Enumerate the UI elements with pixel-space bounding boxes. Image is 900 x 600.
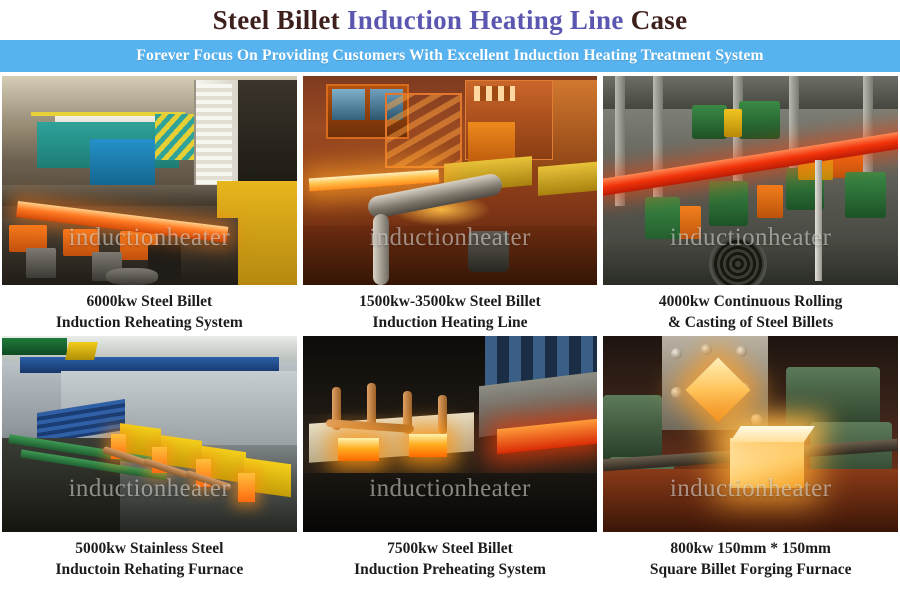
tagline-text: Forever Focus On Providing Customers Wit… xyxy=(136,47,763,65)
case-caption-2-line2: Induction Heating Line xyxy=(303,312,598,333)
page-title-part-2: Induction Heating Line xyxy=(347,5,624,35)
case-caption-6-line1: 800kw 150mm * 150mm xyxy=(670,540,831,557)
case-photo-5[interactable]: inductionheater xyxy=(303,336,598,532)
case-photo-4[interactable]: inductionheater xyxy=(2,336,297,532)
case-caption-3-line1: 4000kw Continuous Rolling xyxy=(659,293,842,310)
case-gallery-grid: inductionheater 6000kw Steel Billet Indu… xyxy=(0,72,900,581)
page-title-part-1: Steel Billet xyxy=(213,5,347,35)
case-gallery-page: Steel Billet Induction Heating Line Case… xyxy=(0,0,900,600)
tagline-banner: Forever Focus On Providing Customers Wit… xyxy=(0,40,900,72)
case-card-5[interactable]: inductionheater 7500kw Steel Billet Indu… xyxy=(303,336,598,581)
case-card-6[interactable]: inductionheater 800kw 150mm * 150mm Squa… xyxy=(603,336,898,581)
case-caption-4: 5000kw Stainless Steel Inductoin Rehatin… xyxy=(2,532,297,581)
case-caption-3-line2: & Casting of Steel Billets xyxy=(603,312,898,333)
case-photo-3[interactable]: inductionheater xyxy=(603,76,898,285)
case-caption-5: 7500kw Steel Billet Induction Preheating… xyxy=(303,532,598,581)
case-photo-1[interactable]: inductionheater xyxy=(2,76,297,285)
case-card-3[interactable]: inductionheater 4000kw Continuous Rollin… xyxy=(603,76,898,334)
case-caption-6: 800kw 150mm * 150mm Square Billet Forgin… xyxy=(603,532,898,581)
case-card-4[interactable]: inductionheater 5000kw Stainless Steel I… xyxy=(2,336,297,581)
case-caption-2: 1500kw-3500kw Steel Billet Induction Hea… xyxy=(303,285,598,334)
page-title-part-3: Case xyxy=(624,5,688,35)
case-caption-1: 6000kw Steel Billet Induction Reheating … xyxy=(2,285,297,334)
case-caption-5-line2: Induction Preheating System xyxy=(303,559,598,580)
case-card-2[interactable]: inductionheater 1500kw-3500kw Steel Bill… xyxy=(303,76,598,334)
case-caption-1-line1: 6000kw Steel Billet xyxy=(86,293,212,310)
case-caption-1-line2: Induction Reheating System xyxy=(2,312,297,333)
page-title: Steel Billet Induction Heating Line Case xyxy=(213,5,688,36)
page-title-bar: Steel Billet Induction Heating Line Case xyxy=(0,0,900,40)
case-card-1[interactable]: inductionheater 6000kw Steel Billet Indu… xyxy=(2,76,297,334)
case-caption-6-line2: Square Billet Forging Furnace xyxy=(603,559,898,580)
case-caption-2-line1: 1500kw-3500kw Steel Billet xyxy=(359,293,541,310)
case-caption-5-line1: 7500kw Steel Billet xyxy=(387,540,513,557)
case-caption-4-line2: Inductoin Rehating Furnace xyxy=(2,559,297,580)
case-caption-3: 4000kw Continuous Rolling & Casting of S… xyxy=(603,285,898,334)
case-photo-6[interactable]: inductionheater xyxy=(603,336,898,532)
case-caption-4-line1: 5000kw Stainless Steel xyxy=(75,540,223,557)
case-photo-2[interactable]: inductionheater xyxy=(303,76,598,285)
